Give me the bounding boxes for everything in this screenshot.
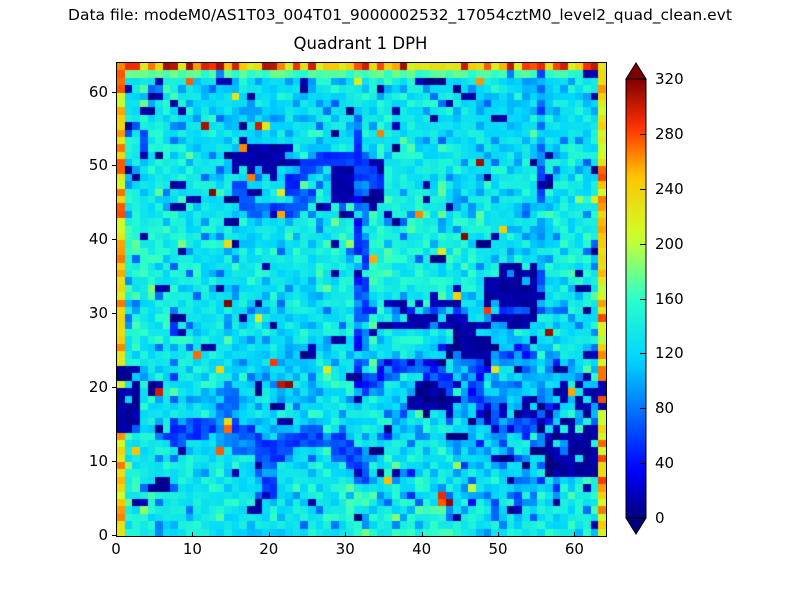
x-tickmark (574, 532, 575, 536)
colorbar-tick-label: 280 (655, 125, 684, 143)
x-tick-label: 50 (488, 540, 507, 558)
x-tickmark (192, 532, 193, 536)
x-tickmark (498, 532, 499, 536)
axes-title: Quadrant 1 DPH (116, 34, 605, 53)
figure-canvas: Data file: modeM0/AS1T03_004T01_90000025… (0, 0, 800, 600)
colorbar-tick-label: 160 (655, 290, 684, 308)
x-tick-label: 40 (412, 540, 431, 558)
x-tickmark (422, 532, 423, 536)
y-tick-label: 30 (89, 304, 108, 322)
y-tick-label: 50 (89, 156, 108, 174)
y-tickmark (112, 461, 116, 462)
figure-suptitle: Data file: modeM0/AS1T03_004T01_90000025… (0, 6, 800, 24)
colorbar-tick-label: 0 (655, 509, 665, 527)
colorbar-tickmark (640, 518, 646, 519)
colorbar-tick-label: 120 (655, 344, 684, 362)
colorbar-tickmark (640, 408, 646, 409)
colorbar-extend-max-arrow (626, 63, 646, 79)
x-tick-label: 60 (565, 540, 584, 558)
y-tickmark (112, 165, 116, 166)
x-tickmark (345, 532, 346, 536)
y-tick-label: 60 (89, 83, 108, 101)
colorbar-tick-label: 320 (655, 70, 684, 88)
x-tickmark (269, 532, 270, 536)
colorbar-tickmark (640, 134, 646, 135)
x-tick-label: 10 (183, 540, 202, 558)
x-tick-label: 0 (111, 540, 121, 558)
y-tickmark (112, 535, 116, 536)
colorbar-tickmark (640, 79, 646, 80)
colorbar-extend-min-arrow (626, 518, 646, 534)
colorbar-tickmark (640, 353, 646, 354)
colorbar-tick-label: 240 (655, 180, 684, 198)
colorbar-tick-label: 80 (655, 399, 674, 417)
y-tick-label: 40 (89, 230, 108, 248)
colorbar-tickmark (640, 299, 646, 300)
x-tick-label: 20 (259, 540, 278, 558)
y-tickmark (112, 387, 116, 388)
colorbar-tick-label: 40 (655, 454, 674, 472)
y-tick-label: 20 (89, 378, 108, 396)
x-tick-label: 30 (336, 540, 355, 558)
colorbar-tick-label: 200 (655, 235, 684, 253)
heatmap-axes[interactable] (116, 62, 607, 537)
heatmap-image (117, 63, 606, 536)
x-tickmark (116, 532, 117, 536)
y-tickmark (112, 92, 116, 93)
colorbar-tickmark (640, 463, 646, 464)
y-tick-label: 0 (98, 526, 108, 544)
y-tick-label: 10 (89, 452, 108, 470)
y-tickmark (112, 313, 116, 314)
y-tickmark (112, 239, 116, 240)
colorbar-tickmark (640, 244, 646, 245)
colorbar-tickmark (640, 189, 646, 190)
